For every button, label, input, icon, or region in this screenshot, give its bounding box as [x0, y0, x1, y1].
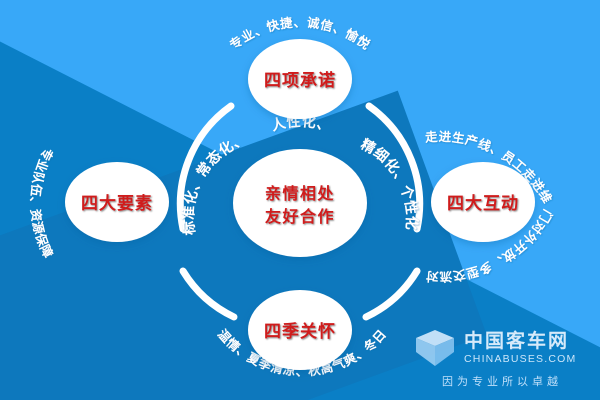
cube-icon [412, 328, 458, 368]
node-left-four-elements[interactable]: 四大要素 [65, 162, 169, 242]
center-node[interactable]: 亲情相处 友好合作 [233, 149, 367, 257]
node-right-four-interactions[interactable]: 四大互动 [431, 162, 535, 242]
node-left-label: 四大要素 [81, 193, 153, 214]
left-node-arc-text: 网络布局、专业队伍、资源保障、规范操作 [0, 0, 56, 261]
node-bottom-label: 四季关怀 [264, 321, 336, 342]
node-right-label: 四大互动 [447, 193, 519, 214]
watermark-logo: 中国客车网 CHINABUSES.COM 因为专业所以卓越 [412, 326, 592, 392]
logo-brand-en: CHINABUSES.COM [464, 354, 576, 365]
center-arc-text-right: 精细化、个性化 [358, 136, 420, 231]
center-node-label-line1: 亲情相处 [265, 184, 335, 203]
logo-brand-cn: 中国客车网 [464, 332, 576, 351]
ring-arc-bottom-right [366, 271, 417, 317]
infographic-canvas: 专业、快捷、诚信、愉悦 网络布局、专业队伍、资源保障、规范操作 客户走进生产线、… [0, 0, 600, 400]
logo-slogan: 因为专业所以卓越 [412, 373, 592, 389]
node-top-four-commitments[interactable]: 四项承诺 [248, 39, 352, 119]
node-bottom-four-seasons-care[interactable]: 四季关怀 [248, 290, 352, 370]
center-node-shape [233, 149, 367, 257]
center-node-label-line2: 友好合作 [265, 207, 335, 226]
ring-arc-bottom-left [183, 271, 234, 317]
node-top-label: 四项承诺 [264, 70, 336, 91]
